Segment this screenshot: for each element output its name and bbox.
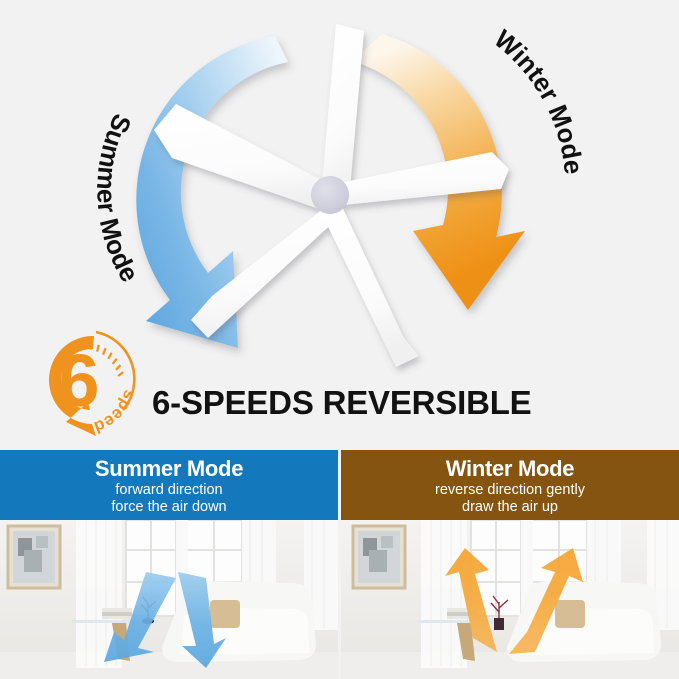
badge-number: 6	[58, 339, 99, 422]
winter-banner-line1: reverse direction gently	[435, 482, 585, 498]
summer-banner-line2: force the air down	[111, 499, 226, 515]
summer-mode-banner: Summer Mode forward direction force the …	[0, 450, 338, 520]
fan-hub	[311, 176, 349, 214]
page-title: 6-SPEEDS REVERSIBLE	[152, 384, 531, 422]
throw-pillow	[555, 600, 585, 628]
room-photo-strip	[0, 520, 679, 679]
winter-room-photo	[341, 520, 679, 679]
mode-banner-strip: Summer Mode forward direction force the …	[0, 450, 679, 520]
throw-pillow	[210, 600, 240, 628]
six-speeds-badge: 6 speed	[22, 318, 142, 438]
winter-banner-line2: draw the air up	[462, 499, 558, 515]
winter-banner-title: Winter Mode	[446, 456, 575, 481]
winter-mode-banner: Winter Mode reverse direction gently dra…	[341, 450, 679, 520]
title-row: 6 speed 6-SPEEDS REVERSIBLE	[0, 378, 679, 440]
infographic-root: Summer Mode Winter Mode	[0, 0, 679, 679]
summer-banner-line1: forward direction	[115, 482, 222, 498]
summer-banner-title: Summer Mode	[95, 456, 243, 481]
winter-mode-curved-label: Winter Mode	[489, 24, 589, 176]
summer-room-photo	[0, 520, 338, 679]
